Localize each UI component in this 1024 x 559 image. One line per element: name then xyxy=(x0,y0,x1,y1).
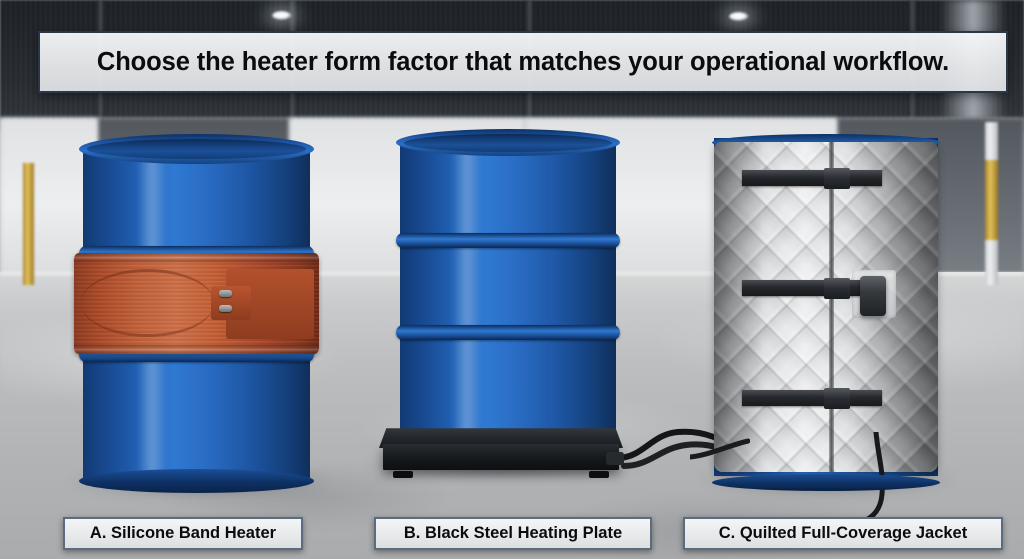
drum-on-heating-plate[interactable] xyxy=(400,129,616,454)
headline-text: Choose the heater form factor that match… xyxy=(97,48,949,77)
drum-rolling-hoop xyxy=(396,325,620,340)
power-plug[interactable] xyxy=(860,276,886,316)
quilted-insulation-jacket[interactable] xyxy=(714,142,938,472)
plate-foot xyxy=(589,471,609,478)
jacket-shading xyxy=(714,142,938,472)
band-bolt xyxy=(219,305,232,312)
jacket-closure-seam xyxy=(829,142,834,472)
ceiling-light-icon xyxy=(272,11,292,20)
black-steel-heating-plate[interactable] xyxy=(379,422,623,474)
band-bolt xyxy=(219,290,232,297)
drum-lid xyxy=(396,129,620,156)
caption-option-b-label: B. Black Steel Heating Plate xyxy=(404,524,622,543)
jacket-buckle[interactable] xyxy=(824,388,850,409)
silicone-band-heater[interactable] xyxy=(74,253,319,354)
caption-option-a-label: A. Silicone Band Heater xyxy=(90,524,276,543)
jacket-buckle[interactable] xyxy=(824,278,850,299)
drum-lid xyxy=(79,134,314,164)
heater-form-factor-comparison: A. Silicone Band Heater B. Black Steel H… xyxy=(0,0,1024,559)
jacket-buckle[interactable] xyxy=(824,168,850,189)
plate-side-panel xyxy=(383,444,619,470)
safety-bollard-right xyxy=(985,122,998,285)
jacket-strap[interactable] xyxy=(742,170,882,186)
band-tension-strap xyxy=(81,269,215,337)
caption-option-c[interactable]: C. Quilted Full-Coverage Jacket xyxy=(683,517,1003,550)
caption-option-c-label: C. Quilted Full-Coverage Jacket xyxy=(719,524,967,543)
plate-foot xyxy=(393,471,413,478)
caption-option-a[interactable]: A. Silicone Band Heater xyxy=(63,517,303,550)
drum-silicone-band-heater[interactable] xyxy=(83,134,310,486)
drum-rolling-hoop xyxy=(396,233,620,248)
ceiling-light-icon xyxy=(729,12,749,21)
headline-banner: Choose the heater form factor that match… xyxy=(38,31,1008,93)
drum-base-ring xyxy=(79,469,314,493)
caption-option-b[interactable]: B. Black Steel Heating Plate xyxy=(374,517,652,550)
safety-bollard-left xyxy=(23,163,34,285)
drum-quilted-jacket[interactable] xyxy=(714,132,938,486)
steel-drum-body xyxy=(400,142,616,447)
jacket-strap[interactable] xyxy=(742,390,882,406)
drum-base-rim xyxy=(712,474,940,491)
